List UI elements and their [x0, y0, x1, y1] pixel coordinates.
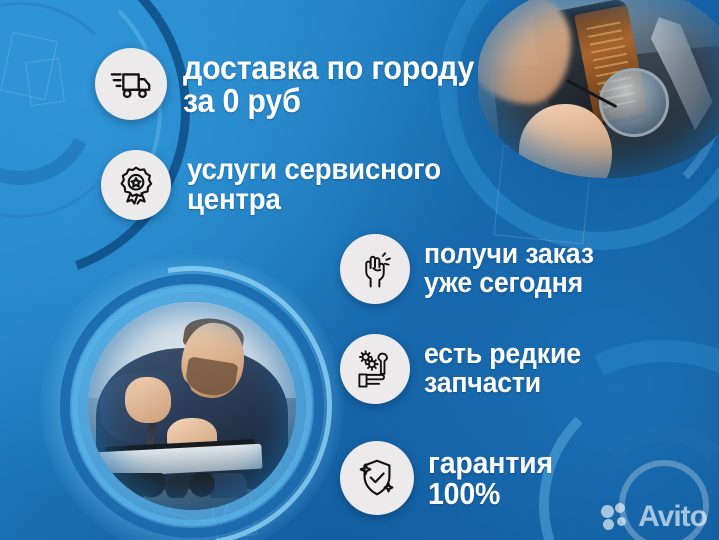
shield-check-icon [340, 441, 414, 515]
hand-gears-wrench-icon [340, 334, 410, 404]
avito-watermark: Avito [601, 500, 707, 534]
photo-phone-repair [478, 0, 719, 178]
avito-watermark-text: Avito [638, 500, 707, 534]
avito-logo-icon [601, 503, 635, 531]
feature-service-center-label: услуги сервисного центра [187, 155, 441, 215]
feature-rare-parts: есть редкие запчасти [340, 334, 594, 404]
photo-technician-frame [58, 272, 326, 540]
feature-delivery-label: доставка по городу за 0 руб [183, 51, 474, 117]
tech-ring-decoration-left [0, 0, 190, 280]
feature-service-center: услуги сервисного центра [101, 150, 463, 220]
delivery-truck-icon [95, 48, 167, 120]
feature-warranty: гарантия 100% [340, 441, 564, 515]
award-badge-icon [101, 150, 171, 220]
feature-order-today-label: получи заказ уже сегодня [424, 240, 594, 298]
feature-rare-parts-label: есть редкие запчасти [424, 340, 581, 398]
feature-order-today: получи заказ уже сегодня [340, 234, 609, 304]
promo-banner: доставка по городу за 0 руб услуги серви… [0, 0, 719, 540]
feature-delivery: доставка по городу за 0 руб [95, 48, 500, 120]
feature-warranty-label: гарантия 100% [428, 447, 553, 509]
snapping-fingers-icon [340, 234, 410, 304]
